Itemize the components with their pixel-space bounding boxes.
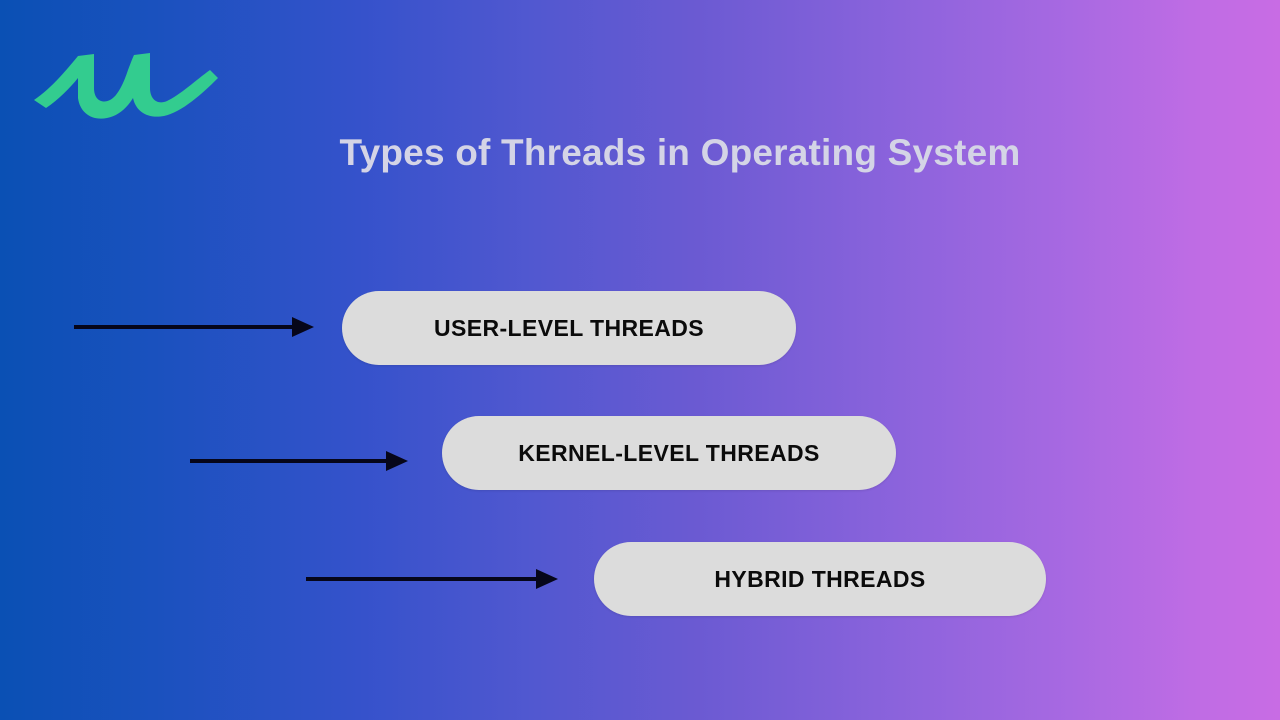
thread-type-label: USER-LEVEL THREADS xyxy=(434,315,704,342)
arrow-to-kernel-level-threads xyxy=(190,449,408,473)
thread-type-label: HYBRID THREADS xyxy=(714,566,925,593)
arrow-to-hybrid-threads xyxy=(306,567,558,591)
thread-type-hybrid[interactable]: HYBRID THREADS xyxy=(594,542,1046,616)
page-title: Types of Threads in Operating System xyxy=(200,132,1160,174)
arrow-to-user-level-threads xyxy=(74,315,314,339)
slide-canvas: Types of Threads in Operating System USE… xyxy=(0,0,1280,720)
wave-squiggle-logo xyxy=(30,48,230,124)
thread-type-kernel-level[interactable]: KERNEL-LEVEL THREADS xyxy=(442,416,896,490)
thread-type-label: KERNEL-LEVEL THREADS xyxy=(518,440,820,467)
thread-type-user-level[interactable]: USER-LEVEL THREADS xyxy=(342,291,796,365)
